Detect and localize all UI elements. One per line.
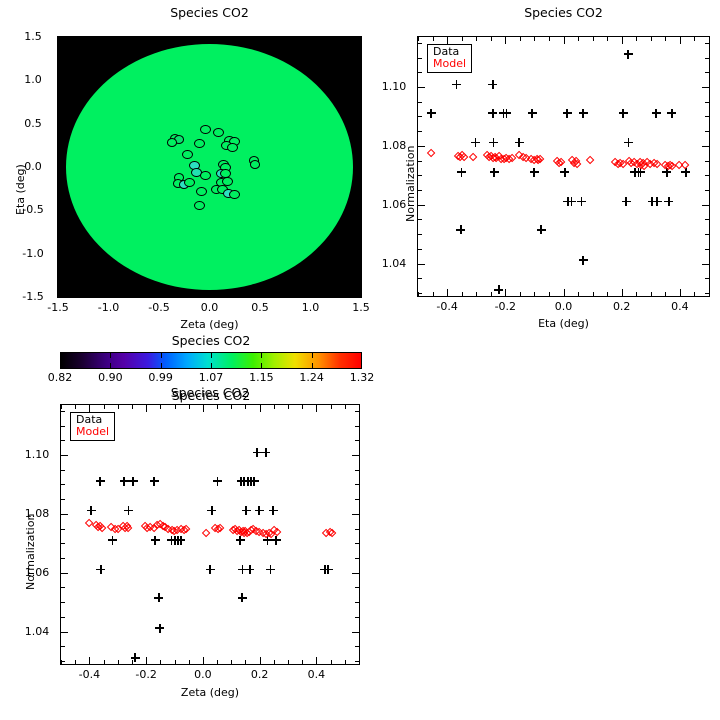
image-map-yminortick	[58, 210, 62, 211]
plus-vertical	[492, 80, 494, 89]
colorbar-tick: 1.24	[288, 371, 336, 384]
eta_scatter-xminortick	[694, 37, 695, 41]
zeta_scatter-yminortick	[61, 617, 65, 618]
image-map-xtick: 1.5	[341, 301, 381, 314]
eta_scatter-yminortick	[705, 58, 709, 59]
eta_scatter-yminortick	[418, 293, 422, 294]
colorbar-tick: 1.15	[237, 371, 285, 384]
plus-vertical	[241, 593, 243, 602]
data-point-plus	[108, 536, 117, 545]
zeta_scatter-xminortick	[288, 660, 289, 664]
aperture-marker	[200, 171, 211, 180]
data-point-plus	[452, 80, 461, 89]
data-point-plus	[266, 565, 275, 574]
image-map-xminortick	[184, 37, 185, 41]
data-point-plus	[528, 109, 537, 118]
colorbar-tickmark	[110, 363, 111, 368]
plus-vertical	[668, 197, 670, 206]
legend-model-label: Model	[433, 58, 466, 70]
zeta_scatter-yminortick	[61, 558, 65, 559]
eta_scatter-yminortick	[705, 264, 709, 265]
data-point-plus	[563, 109, 572, 118]
zeta_scatter-yminortick	[61, 484, 65, 485]
eta_scatter-yminortick	[418, 58, 422, 59]
eta_scatter-xminortick	[593, 292, 594, 296]
eta_scatter-xminortick	[622, 292, 623, 296]
colorbar-tickmark	[261, 363, 262, 368]
plus-vertical	[245, 506, 247, 515]
plus-vertical	[90, 506, 92, 515]
aperture-marker	[182, 150, 193, 159]
eta_scatter-xminortick	[709, 292, 710, 296]
data-point-plus	[530, 168, 539, 177]
zeta_scatter-xminortick	[189, 405, 190, 409]
zeta_scatter-xminortick	[89, 660, 90, 664]
eta_scatter-xminortick	[593, 37, 594, 41]
eta_scatter-yminortick	[418, 175, 422, 176]
zeta_scatter-yminortick	[61, 455, 65, 456]
aperture-marker	[194, 201, 205, 210]
data-point-plus	[154, 593, 163, 602]
data-point-plus	[619, 109, 628, 118]
zeta_scatter-yminortick	[355, 646, 359, 647]
plus-vertical	[180, 536, 182, 545]
zeta_scatter-xminortick	[203, 660, 204, 664]
plus-vertical	[256, 448, 258, 457]
image-map-yminortick	[357, 145, 361, 146]
zeta_scatter-xminortick	[175, 660, 176, 664]
legend-model-label: Model	[76, 426, 109, 438]
data-point-plus	[238, 593, 247, 602]
data-point-plus	[560, 168, 569, 177]
eta_scatter-yminortick	[418, 205, 422, 206]
zeta-scatter-legend[interactable]: Data Model	[70, 412, 115, 441]
image-map-yminortick	[58, 59, 62, 60]
plus-vertical	[475, 138, 477, 147]
eta_scatter-xminortick	[433, 37, 434, 41]
zeta_scatter-xminortick	[160, 405, 161, 409]
plus-vertical	[571, 197, 573, 206]
eta_scatter-xminortick	[462, 292, 463, 296]
image-map-yminortick	[58, 254, 62, 255]
eta_scatter-yminortick	[705, 146, 709, 147]
zeta_scatter-xminortick	[331, 660, 332, 664]
zeta_scatter-xminortick	[359, 660, 360, 664]
zeta_scatter-xminortick	[189, 660, 190, 664]
data-point-plus	[652, 109, 661, 118]
plus-vertical	[249, 565, 251, 574]
eta_scatter-xminortick	[651, 292, 652, 296]
model-point-diamond	[202, 529, 211, 538]
eta_scatter-yminortick	[418, 190, 422, 191]
eta_scatter-ytick: 1.10	[375, 80, 413, 93]
image-map-xminortick	[210, 37, 211, 41]
plus-vertical	[627, 50, 629, 59]
image-map-yminortick	[357, 254, 361, 255]
aperture-marker	[213, 128, 224, 137]
image-map-xminortick	[134, 37, 135, 41]
image-map-xminortick	[311, 37, 312, 41]
zeta_scatter-yminortick	[355, 499, 359, 500]
zeta_scatter-yminortick	[61, 661, 65, 662]
data-point-plus	[255, 506, 264, 515]
eta-scatter-xlabel: Eta (deg)	[417, 317, 710, 330]
zeta_scatter-xminortick	[118, 405, 119, 409]
zeta_scatter-xminortick	[231, 660, 232, 664]
zeta_scatter-yminortick	[355, 573, 359, 574]
zeta_scatter-yminortick	[61, 529, 65, 530]
plus-vertical	[239, 536, 241, 545]
model-point-diamond	[469, 153, 478, 162]
colorbar-tick: 1.32	[338, 371, 386, 384]
eta_scatter-yminortick	[705, 249, 709, 250]
zeta_scatter-xtick: -0.2	[124, 668, 168, 681]
plus-vertical	[625, 197, 627, 206]
eta_scatter-xminortick	[665, 292, 666, 296]
image-map-xminortick	[285, 294, 286, 298]
plus-vertical	[628, 138, 630, 147]
eta_scatter-yminortick	[705, 175, 709, 176]
zeta_scatter-yminortick	[61, 426, 65, 427]
zeta_scatter-xminortick	[260, 660, 261, 664]
zeta_scatter-yminortick	[355, 440, 359, 441]
data-point-plus	[664, 197, 673, 206]
image-map-xtick: -1.0	[89, 301, 129, 314]
image-map-yminortick	[357, 37, 361, 38]
colorbar-tickmark	[312, 363, 313, 368]
eta_scatter-yminortick	[418, 264, 422, 265]
aperture-marker	[250, 160, 261, 169]
image-map-xminortick	[184, 294, 185, 298]
plus-vertical	[270, 565, 272, 574]
zeta_scatter-yminortick	[355, 514, 359, 515]
eta_scatter-xminortick	[476, 292, 477, 296]
eta_scatter-yminortick	[418, 234, 422, 235]
eta_scatter-xminortick	[462, 37, 463, 41]
eta_scatter-yminortick	[418, 87, 422, 88]
eta_scatter-yminortick	[418, 219, 422, 220]
data-point-plus	[96, 565, 105, 574]
plus-vertical	[581, 197, 583, 206]
zeta_scatter-xminortick	[302, 660, 303, 664]
zeta_scatter-xminortick	[231, 405, 232, 409]
eta_scatter-yminortick	[418, 72, 422, 73]
zeta_scatter-yminortick	[355, 484, 359, 485]
eta-scatter-plot-area[interactable]	[417, 36, 710, 297]
eta_scatter-xtick: -0.2	[483, 300, 527, 313]
model-point-diamond	[427, 149, 436, 158]
plus-vertical	[460, 225, 462, 234]
zeta_scatter-xtick: 0.0	[181, 668, 225, 681]
colorbar-tickmark	[161, 353, 162, 358]
data-point-plus	[120, 477, 129, 486]
aperture-marker	[196, 187, 207, 196]
eta_scatter-ytick: 1.08	[375, 139, 413, 152]
eta_scatter-yminortick	[705, 161, 709, 162]
data-point-plus	[269, 506, 278, 515]
data-point-plus	[272, 536, 281, 545]
zeta_scatter-yminortick	[355, 617, 359, 618]
image-map-ytick: 1.5	[13, 30, 53, 43]
zeta_scatter-xminortick	[61, 405, 62, 409]
zeta_scatter-xminortick	[118, 660, 119, 664]
zeta_scatter-xminortick	[274, 405, 275, 409]
eta_scatter-xminortick	[447, 37, 448, 41]
zeta_scatter-yminortick	[355, 529, 359, 530]
image-map-xminortick	[83, 294, 84, 298]
plus-vertical	[272, 506, 274, 515]
image-map-yminortick	[357, 80, 361, 81]
colorbar-tickmark	[110, 353, 111, 358]
plus-vertical	[100, 565, 102, 574]
zeta_scatter-yminortick	[355, 661, 359, 662]
eta-scatter-legend[interactable]: Data Model	[427, 44, 472, 73]
zeta_scatter-xminortick	[302, 405, 303, 409]
zeta_scatter-yminortick	[61, 514, 65, 515]
eta_scatter-xminortick	[636, 292, 637, 296]
eta_scatter-xtick: 0.4	[658, 300, 702, 313]
image-map-yminortick	[58, 80, 62, 81]
eta_scatter-xminortick	[607, 292, 608, 296]
image-map-yminortick	[58, 124, 62, 125]
colorbar-tickmark	[312, 353, 313, 358]
colorbar-tick: 0.90	[86, 371, 134, 384]
zeta_scatter-xminortick	[75, 660, 76, 664]
plus-vertical	[217, 477, 219, 486]
zeta_scatter-yminortick	[61, 543, 65, 544]
data-point-plus	[155, 624, 164, 633]
image-map-xtick: 0.0	[190, 301, 230, 314]
data-point-plus	[207, 506, 216, 515]
image-map-xminortick	[285, 37, 286, 41]
image-map-yminortick	[58, 102, 62, 103]
zeta_scatter-yminortick	[61, 646, 65, 647]
data-point-plus	[245, 565, 254, 574]
plus-vertical	[533, 168, 535, 177]
zeta_scatter-xminortick	[359, 405, 360, 409]
eta_scatter-xminortick	[564, 292, 565, 296]
zeta_scatter-xminortick	[316, 405, 317, 409]
eta_scatter-xminortick	[433, 292, 434, 296]
zeta_scatter-xminortick	[288, 405, 289, 409]
plus-vertical	[112, 536, 114, 545]
eta_scatter-yminortick	[418, 249, 422, 250]
zeta_scatter-yminortick	[61, 470, 65, 471]
image-map-yminortick	[58, 232, 62, 233]
image-map-yminortick	[357, 210, 361, 211]
eta_scatter-yminortick	[705, 87, 709, 88]
plus-vertical	[430, 109, 432, 118]
eta_scatter-xminortick	[418, 37, 419, 41]
image-map-yminortick	[58, 167, 62, 168]
image-map-yminortick	[357, 124, 361, 125]
plus-vertical	[518, 138, 520, 147]
zeta_scatter-yminortick	[61, 440, 65, 441]
image-map-title: Species CO2	[57, 5, 362, 20]
image-map-plot-area[interactable]	[57, 36, 362, 298]
data-point-plus	[261, 448, 270, 457]
plus-vertical	[671, 109, 673, 118]
image-map-xminortick	[210, 294, 211, 298]
aperture-marker	[194, 139, 205, 148]
eta_scatter-xminortick	[491, 292, 492, 296]
colorbar-tickmark	[161, 363, 162, 368]
eta_scatter-yminortick	[705, 278, 709, 279]
zeta_scatter-yminortick	[355, 602, 359, 603]
zeta_scatter-yminortick	[61, 602, 65, 603]
zeta_scatter-xminortick	[75, 405, 76, 409]
data-point-plus	[456, 225, 465, 234]
zeta_scatter-yminortick	[355, 470, 359, 471]
eta_scatter-xminortick	[709, 37, 710, 41]
eta_scatter-xminortick	[651, 37, 652, 41]
data-point-plus	[567, 197, 576, 206]
plus-vertical	[211, 506, 213, 515]
zeta_scatter-yminortick	[61, 632, 65, 633]
image-map-ytick: -1.0	[13, 247, 53, 260]
plus-vertical	[159, 624, 161, 633]
plus-vertical	[540, 225, 542, 234]
eta_scatter-yminortick	[705, 116, 709, 117]
eta_scatter-ytick: 1.04	[375, 257, 413, 270]
data-point-plus	[87, 506, 96, 515]
data-point-plus	[515, 138, 524, 147]
zeta_scatter-xminortick	[203, 405, 204, 409]
plus-vertical	[265, 448, 267, 457]
zeta_scatter-yminortick	[355, 587, 359, 588]
data-point-plus	[624, 50, 633, 59]
eta_scatter-yminortick	[418, 102, 422, 103]
data-point-plus	[324, 565, 333, 574]
eta_scatter-xminortick	[505, 37, 506, 41]
plus-vertical	[456, 80, 458, 89]
zeta_scatter-yminortick	[61, 587, 65, 588]
eta_scatter-ytick: 1.06	[375, 198, 413, 211]
zeta_scatter-ytick: 1.10	[18, 448, 56, 461]
aperture-marker	[184, 178, 195, 187]
zeta_scatter-xminortick	[316, 660, 317, 664]
data-point-plus	[471, 138, 480, 147]
image-map-yminortick	[58, 297, 62, 298]
eta_scatter-xminortick	[549, 37, 550, 41]
plus-vertical	[154, 536, 156, 545]
image-map-xminortick	[109, 37, 110, 41]
zeta_scatter-yminortick	[355, 543, 359, 544]
image-map-xminortick	[109, 294, 110, 298]
plus-vertical	[209, 565, 211, 574]
plus-vertical	[327, 565, 329, 574]
data-point-plus	[250, 477, 259, 486]
aperture-marker	[200, 125, 211, 134]
field-of-view-disc	[66, 44, 353, 290]
model-point-diamond	[328, 529, 337, 538]
zeta_scatter-yminortick	[355, 426, 359, 427]
eta_scatter-yminortick	[705, 190, 709, 191]
plus-vertical	[99, 477, 101, 486]
eta_scatter-xtick: 0.2	[600, 300, 644, 313]
plus-vertical	[254, 477, 256, 486]
zeta_scatter-xminortick	[274, 660, 275, 664]
plus-vertical	[123, 477, 125, 486]
eta_scatter-yminortick	[705, 205, 709, 206]
image-map-xminortick	[235, 294, 236, 298]
eta_scatter-xminortick	[476, 37, 477, 41]
zeta_scatter-yminortick	[355, 411, 359, 412]
data-point-plus	[494, 285, 503, 294]
plus-vertical	[258, 506, 260, 515]
zeta_scatter-xminortick	[104, 660, 105, 664]
image-map-ytick: -0.5	[13, 203, 53, 216]
plus-vertical	[506, 109, 508, 118]
zeta_scatter-yminortick	[355, 455, 359, 456]
colorbar-tickmark	[261, 353, 262, 358]
image-map-xminortick	[134, 294, 135, 298]
eta_scatter-yminortick	[705, 293, 709, 294]
zeta-scatter-xlabel: Zeta (deg)	[60, 686, 360, 699]
zeta_scatter-ytick: 1.06	[18, 566, 56, 579]
zeta_scatter-xminortick	[146, 405, 147, 409]
data-point-plus	[129, 477, 138, 486]
zeta_scatter-xminortick	[146, 660, 147, 664]
zeta_scatter-ytick: 1.08	[18, 507, 56, 520]
zeta_scatter-xtick: 0.4	[294, 668, 338, 681]
image-map-yminortick	[357, 189, 361, 190]
data-point-plus	[151, 536, 160, 545]
eta-scatter-title: Species CO2	[417, 5, 710, 20]
eta_scatter-xminortick	[491, 37, 492, 41]
zeta_scatter-ytick: 1.04	[18, 625, 56, 638]
image-map-xtick: 1.0	[291, 301, 331, 314]
colorbar-tick: 0.99	[137, 371, 185, 384]
zeta_scatter-yminortick	[355, 632, 359, 633]
eta_scatter-yminortick	[418, 161, 422, 162]
image-map-xminortick	[361, 37, 362, 41]
data-point-plus	[502, 109, 511, 118]
plus-vertical	[531, 109, 533, 118]
plus-vertical	[158, 593, 160, 602]
image-map-ytick: 0.0	[13, 160, 53, 173]
zeta_scatter-xminortick	[345, 405, 346, 409]
image-map-ytick: -1.5	[13, 290, 53, 303]
data-point-plus	[490, 168, 499, 177]
plus-vertical	[492, 109, 494, 118]
zeta_scatter-xminortick	[217, 660, 218, 664]
eta_scatter-xminortick	[578, 292, 579, 296]
image-map-xminortick	[260, 294, 261, 298]
eta_scatter-yminortick	[418, 116, 422, 117]
zeta_scatter-yminortick	[61, 499, 65, 500]
colorbar-title-top: Species CO2	[60, 333, 362, 348]
zeta_scatter-yminortick	[61, 573, 65, 574]
data-point-plus	[124, 506, 133, 515]
data-point-plus	[242, 506, 251, 515]
eta_scatter-xminortick	[520, 37, 521, 41]
data-point-plus	[150, 477, 159, 486]
plus-vertical	[153, 477, 155, 486]
zeta_scatter-xminortick	[132, 660, 133, 664]
plus-vertical	[564, 168, 566, 177]
eta_scatter-yminortick	[418, 43, 422, 44]
plus-vertical	[622, 109, 624, 118]
zeta_scatter-xtick: 0.2	[238, 668, 282, 681]
data-point-plus	[489, 138, 498, 147]
image-map-xminortick	[311, 294, 312, 298]
zeta-scatter-plot-area[interactable]	[60, 404, 360, 665]
data-point-plus	[96, 477, 105, 486]
eta_scatter-yminortick	[705, 131, 709, 132]
image-map-yminortick	[58, 189, 62, 190]
zeta_scatter-xminortick	[104, 405, 105, 409]
